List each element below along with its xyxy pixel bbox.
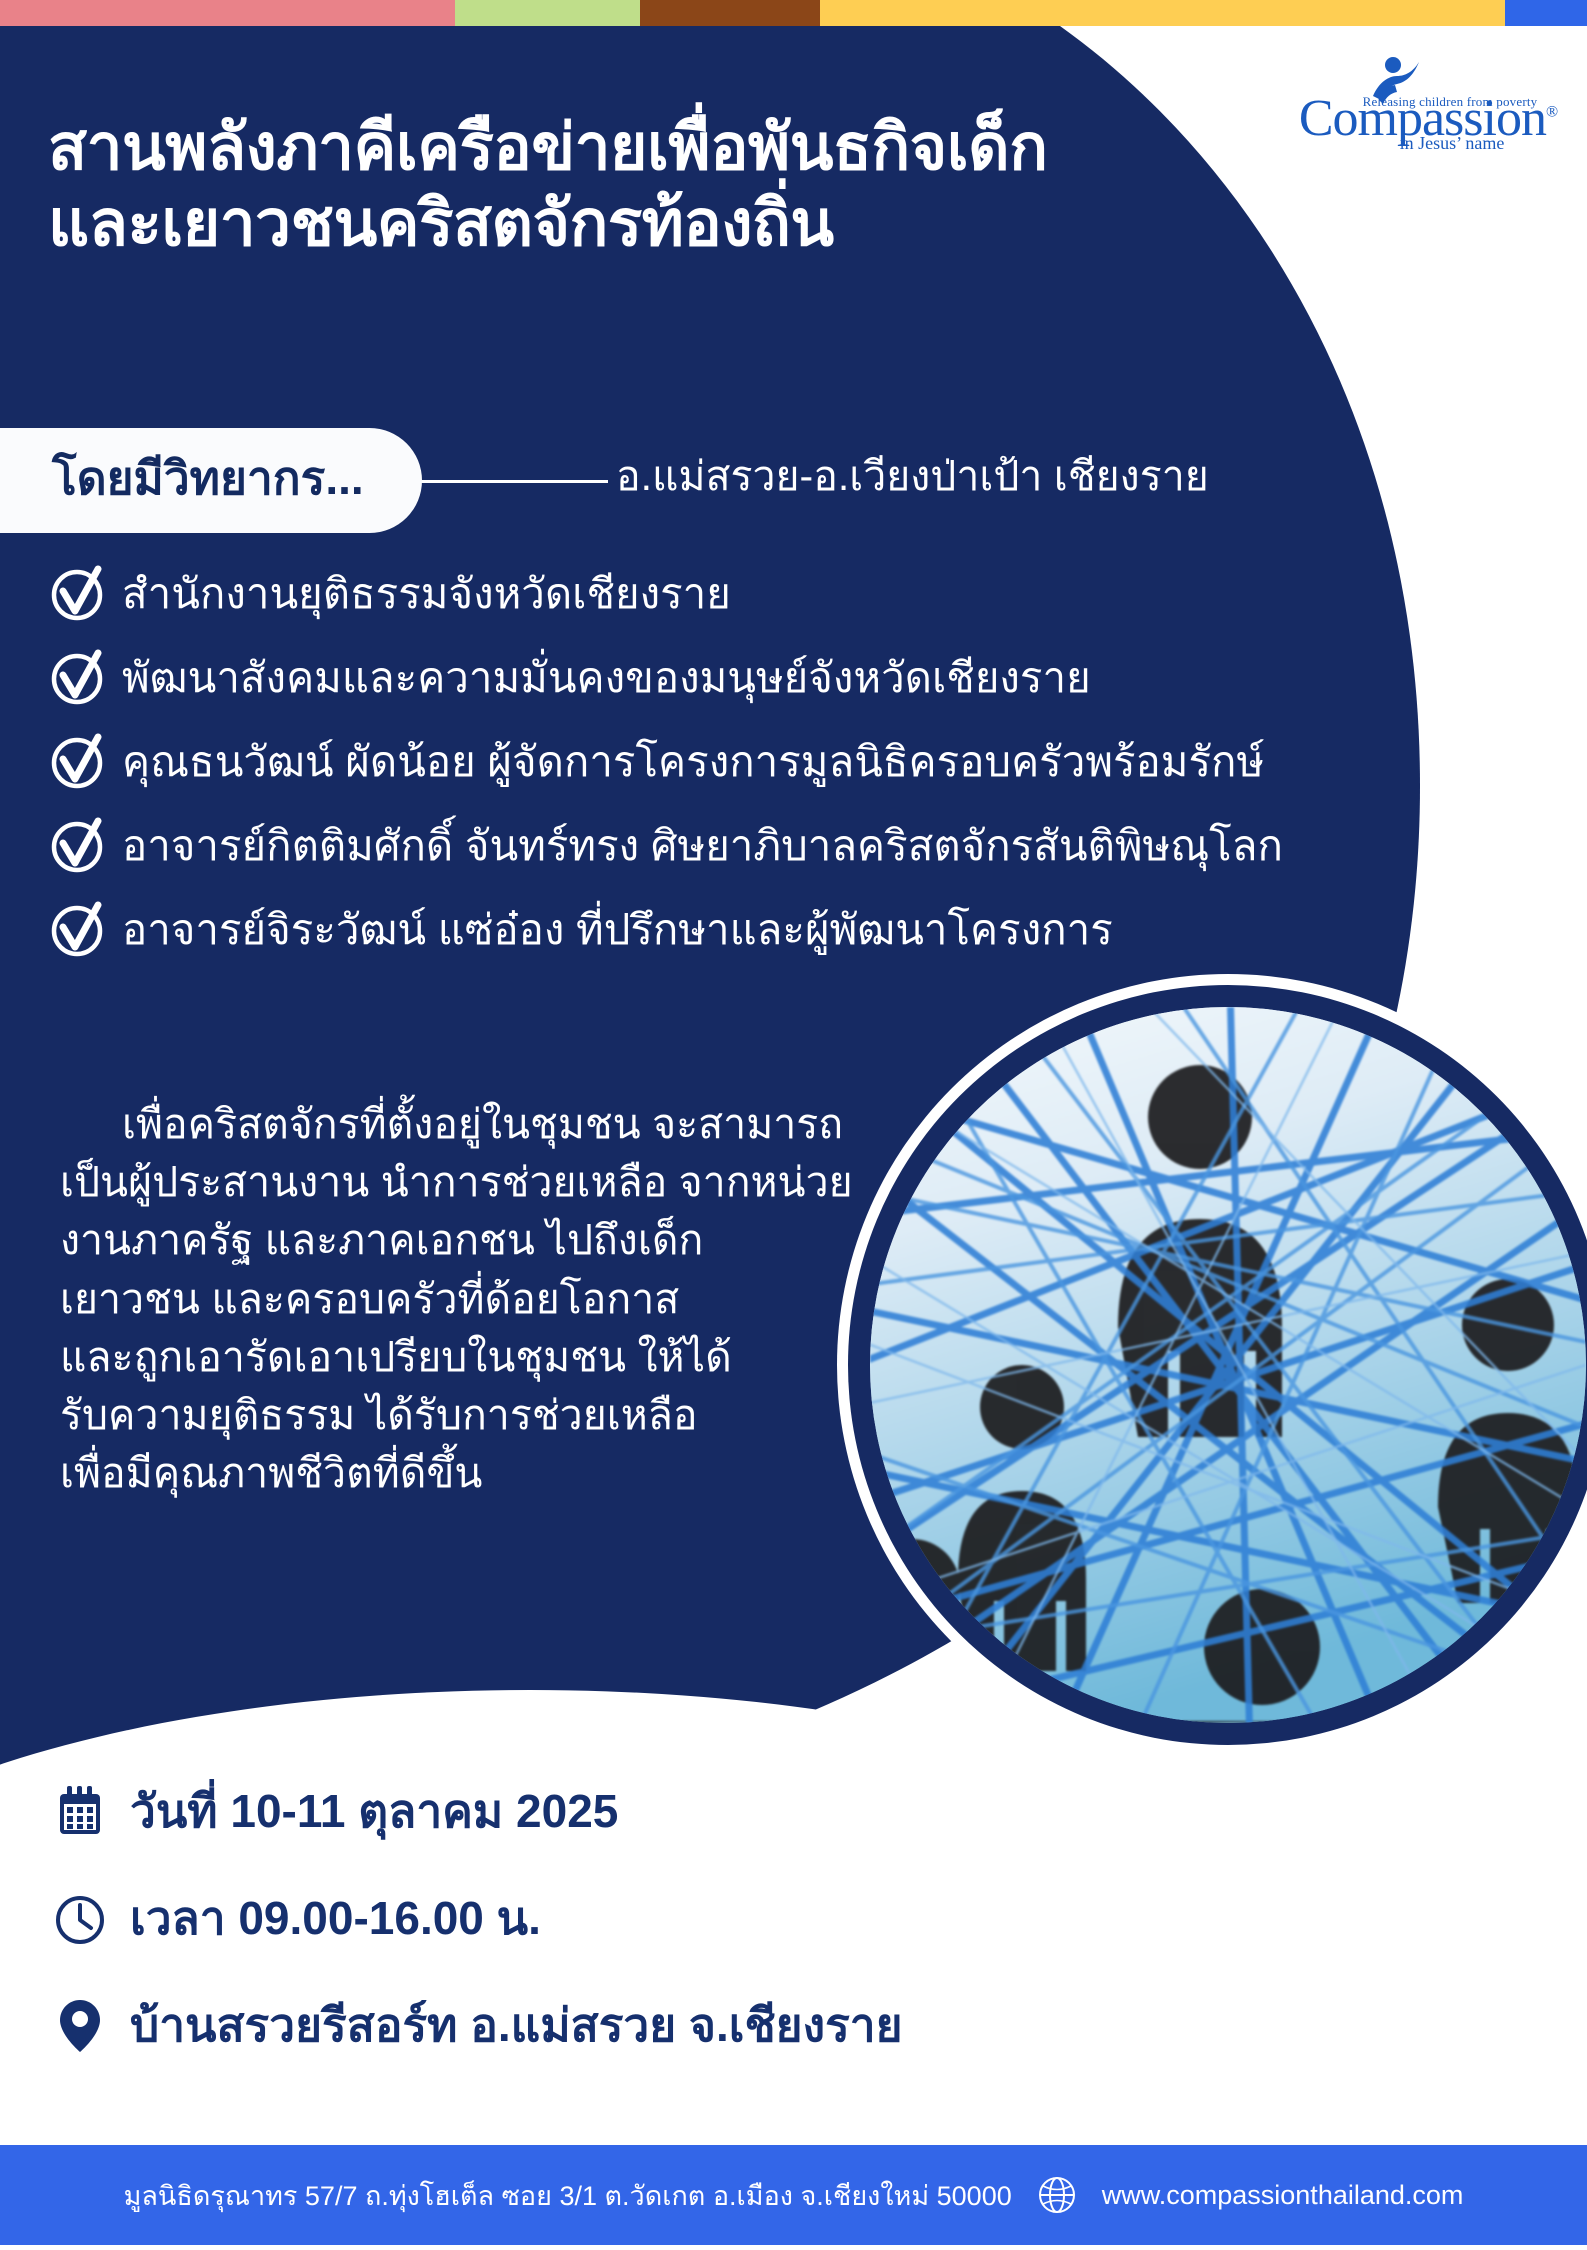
network-graphic	[870, 1007, 1586, 1723]
speakers-list: สำนักงานยุติธรรมจังหวัดเชียงราย พัฒนาสัง…	[48, 565, 1348, 985]
check-circle-icon	[48, 649, 106, 707]
clock-icon	[52, 1889, 108, 1949]
event-time-row: เวลา 09.00-16.00 น.	[52, 1882, 903, 1955]
color-segment-brown	[640, 0, 820, 26]
paragraph-line: รับความยุติธรรม ได้รับการช่วยเหลือ	[60, 1386, 890, 1444]
list-item: พัฒนาสังคมและความมั่นคงของมนุษย์จังหวัดเ…	[48, 649, 1348, 707]
paragraph-line: งานภาครัฐ และภาคเอกชน ไปถึงเด็ก	[60, 1211, 890, 1269]
check-circle-icon	[48, 901, 106, 959]
color-segment-pink	[0, 0, 455, 26]
event-date-text: วันที่ 10-11 ตุลาคม 2025	[130, 1775, 618, 1848]
calendar-icon	[52, 1782, 108, 1842]
event-date-row: วันที่ 10-11 ตุลาคม 2025	[52, 1775, 903, 1848]
check-circle-icon	[48, 817, 106, 875]
paragraph-line: เพื่อมีคุณภาพชีวิตที่ดีขึ้น	[60, 1444, 890, 1502]
speaker-label: อาจารย์กิตติมศักดิ์ จันทร์ทรง ศิษยาภิบาล…	[122, 823, 1283, 869]
network-photo-circle	[848, 985, 1587, 1745]
speaker-label: คุณธนวัฒน์ ผัดน้อย ผู้จัดการโครงการมูลนิ…	[122, 739, 1264, 785]
title-line-2: และเยาวชนคริสตจักรท้องถิ่น	[48, 186, 1278, 262]
footer-address: มูลนิธิดรุณาทร 57/7 ถ.ทุ่งโฮเต็ล ซอย 3/1…	[124, 2174, 1012, 2217]
paragraph-line: และถูกเอารัดเอาเปรียบในชุมชน ให้ได้	[60, 1328, 890, 1386]
paragraph-line: เยาวชน และครอบครัวที่ด้อยโอกาส	[60, 1270, 890, 1328]
color-segment-green	[455, 0, 640, 26]
map-pin-icon	[52, 1996, 108, 2056]
footer-bar: มูลนิธิดรุณาทร 57/7 ถ.ทุ่งโฮเต็ล ซอย 3/1…	[0, 2145, 1587, 2245]
speakers-pill-label: โดยมีวิทยากร...	[0, 428, 422, 533]
logo-subline: in Jesus’ name	[1317, 133, 1587, 154]
color-segment-yellow	[820, 0, 1505, 26]
paragraph-line: เป็นผู้ประสานงาน นำการช่วยเหลือ จากหน่วย	[60, 1153, 890, 1211]
event-details: วันที่ 10-11 ตุลาคม 2025 เวลา 09.00-16.0…	[52, 1775, 903, 2096]
list-item: อาจารย์จิระวัฒน์ แซ่อ๋อง ที่ปรึกษาและผู้…	[48, 901, 1348, 959]
list-item: สำนักงานยุติธรรมจังหวัดเชียงราย	[48, 565, 1348, 623]
check-circle-icon	[48, 733, 106, 791]
speaker-label: พัฒนาสังคมและความมั่นคงของมนุษย์จังหวัดเ…	[122, 655, 1091, 701]
event-location-row: บ้านสรวยรีสอร์ท อ.แม่สรวย จ.เชียงราย	[52, 1989, 903, 2062]
body-paragraph: เพื่อคริสตจักรที่ตั้งอยู่ในชุมชน จะสามาร…	[60, 1095, 890, 1503]
event-time-text: เวลา 09.00-16.00 น.	[130, 1882, 541, 1955]
list-item: คุณธนวัฒน์ ผัดน้อย ผู้จัดการโครงการมูลนิ…	[48, 733, 1348, 791]
compassion-logo: Releasing children from poverty Compassi…	[1293, 78, 1563, 164]
subtitle-text: อ.แม่สรวย-อ.เวียงป่าเป้า เชียงราย	[616, 444, 1209, 509]
event-location-text: บ้านสรวยรีสอร์ท อ.แม่สรวย จ.เชียงราย	[130, 1989, 903, 2062]
list-item: อาจารย์กิตติมศักดิ์ จันทร์ทรง ศิษยาภิบาล…	[48, 817, 1348, 875]
page-title: สานพลังภาคีเครือข่ายเพื่อพันธกิจเด็ก และ…	[48, 110, 1278, 261]
speaker-label: สำนักงานยุติธรรมจังหวัดเชียงราย	[122, 571, 731, 617]
network-photo-inner	[870, 1007, 1586, 1723]
title-line-1: สานพลังภาคีเครือข่ายเพื่อพันธกิจเด็ก	[48, 110, 1278, 186]
top-color-bar	[0, 0, 1587, 26]
logo-registered-mark: ®	[1546, 104, 1557, 121]
color-segment-blue	[1505, 0, 1587, 26]
check-circle-icon	[48, 565, 106, 623]
footer-website[interactable]: www.compassionthailand.com	[1102, 2180, 1464, 2211]
globe-icon	[1038, 2176, 1076, 2214]
paragraph-line: เพื่อคริสตจักรที่ตั้งอยู่ในชุมชน จะสามาร…	[60, 1095, 890, 1153]
speaker-label: อาจารย์จิระวัฒน์ แซ่อ๋อง ที่ปรึกษาและผู้…	[122, 907, 1113, 953]
